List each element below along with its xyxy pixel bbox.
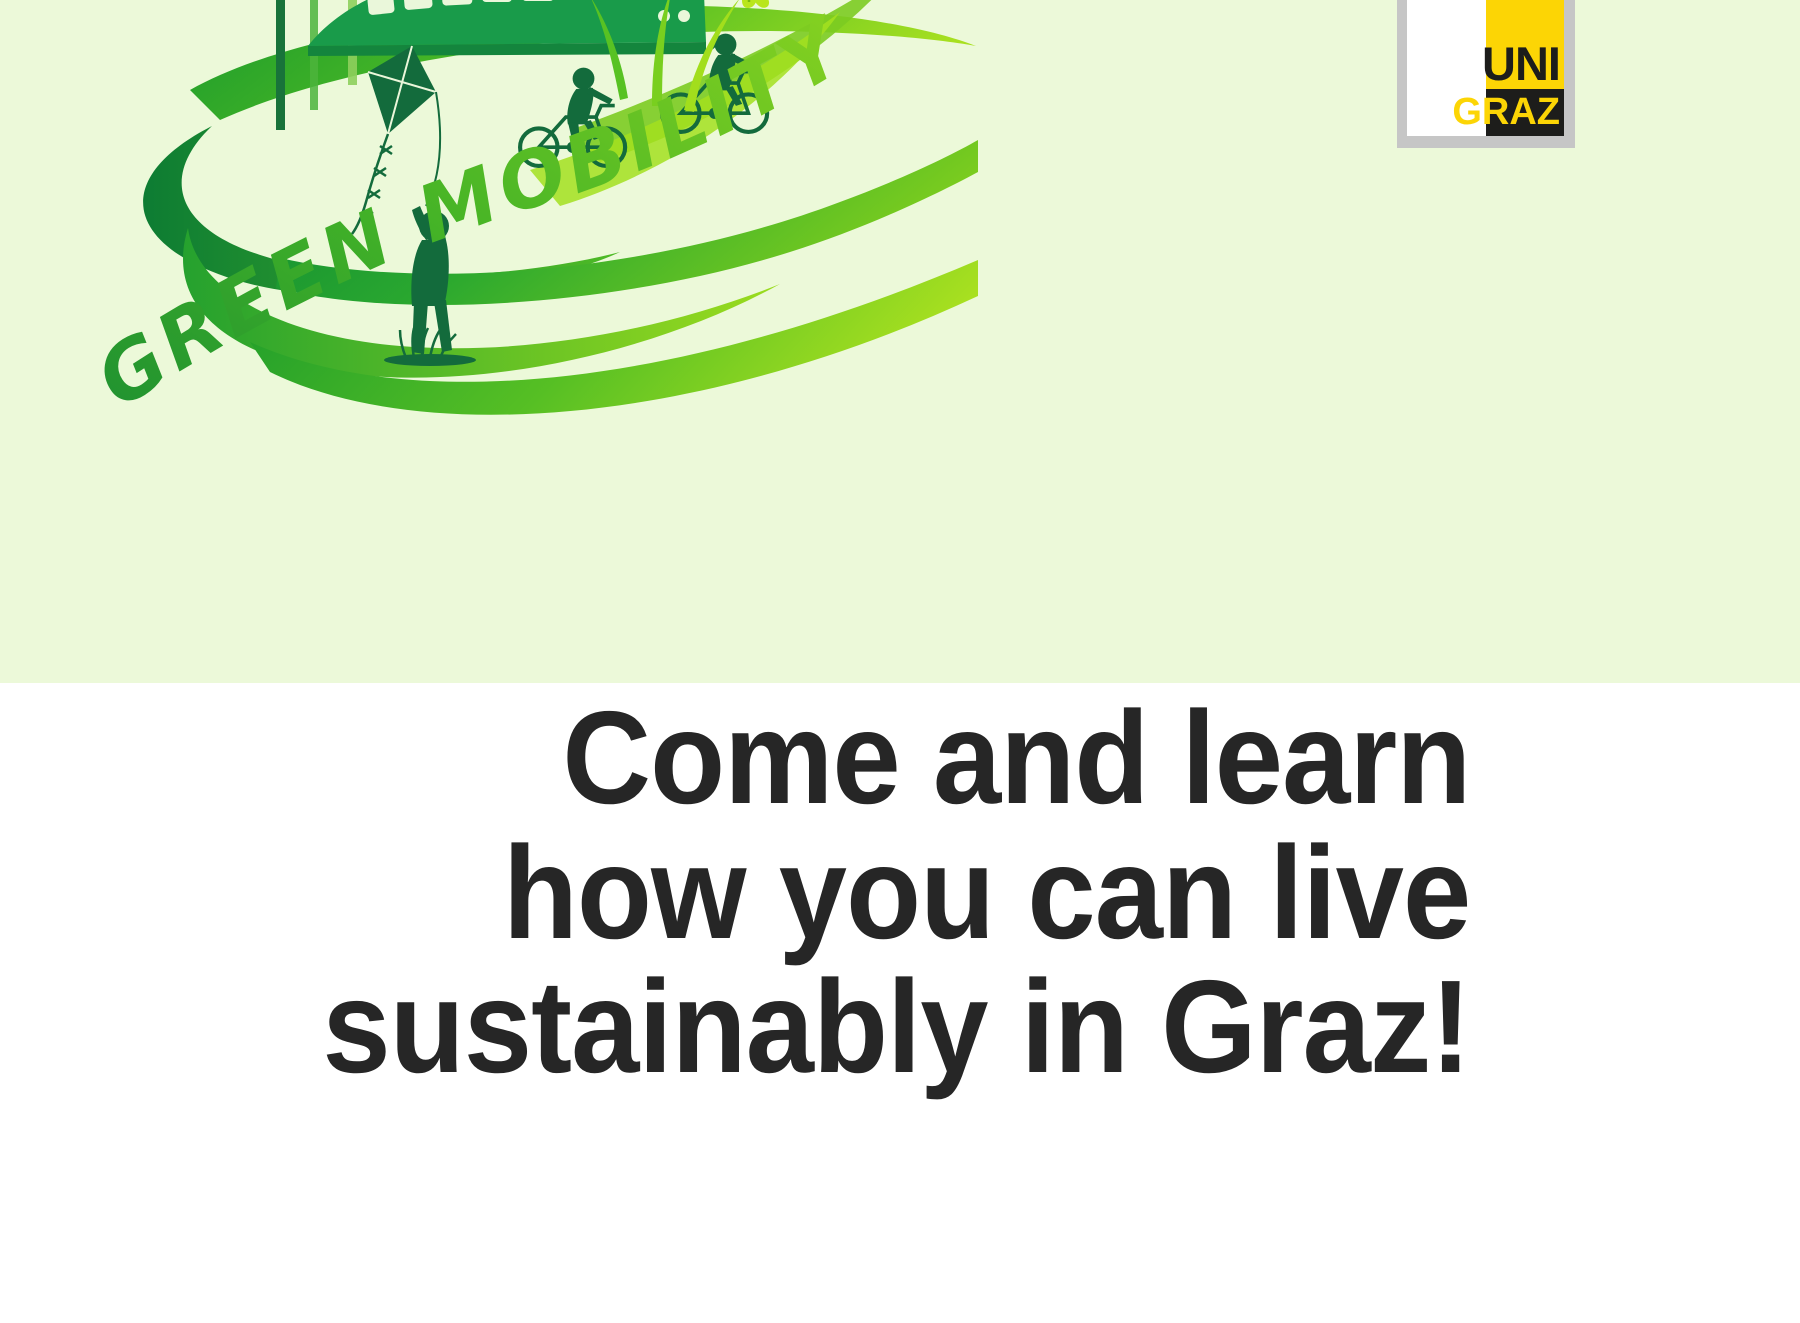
headline-line-3: sustainably in Graz! — [322, 960, 1470, 1095]
butterfly-icon — [737, 0, 776, 8]
green-mobility-days-logo: GREEN MOBILITY DAYS — [100, 0, 980, 500]
uni-graz-logo-inner: UNI GRAZ — [1407, 0, 1564, 136]
headline-text-block: Come and learn how you can live sustaina… — [322, 691, 1470, 1095]
headline-line-1: Come and learn — [322, 691, 1470, 826]
headline-line-2: how you can live — [322, 826, 1470, 961]
headline-section: Come and learn how you can live sustaina… — [0, 683, 1800, 1323]
green-banner: GREEN MOBILITY DAYS UNI GRAZ — [0, 0, 1800, 683]
green-mobility-illustration: GREEN MOBILITY DAYS — [100, 0, 980, 500]
uni-graz-logo[interactable]: UNI GRAZ — [1397, 0, 1575, 148]
uni-graz-graz-text: GRAZ — [1452, 93, 1560, 131]
uni-graz-uni-text: UNI — [1482, 40, 1560, 87]
train-icon — [308, 0, 706, 56]
